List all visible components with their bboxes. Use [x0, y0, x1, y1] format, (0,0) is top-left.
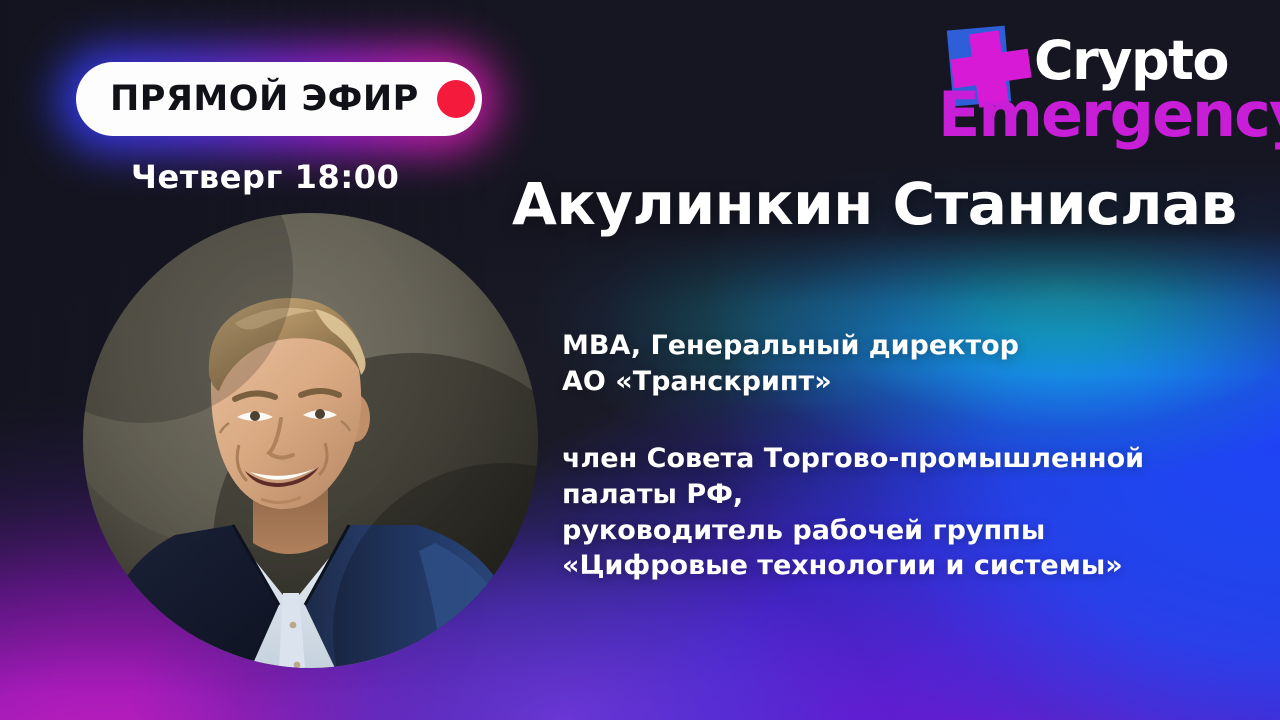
live-badge[interactable]: ПРЯМОЙ ЭФИР [76, 62, 482, 136]
bio-spacer [562, 399, 1262, 441]
brand-logo[interactable]: Crypto Emergency [938, 18, 1256, 158]
bio-line: палаты РФ, [562, 477, 1262, 513]
speaker-bio: MBA, Генеральный директор АО «Транскрипт… [562, 328, 1262, 584]
bio-group-memberships: член Совета Торгово-промышленной палаты … [562, 441, 1262, 584]
bio-group-position: MBA, Генеральный директор АО «Транскрипт… [562, 328, 1262, 399]
logo-word-emergency: Emergency [938, 84, 1280, 146]
bio-line: MBA, Генеральный директор [562, 328, 1262, 364]
bio-line: АО «Транскрипт» [562, 364, 1262, 400]
schedule-text: Четверг 18:00 [131, 158, 400, 196]
speaker-portrait [83, 213, 538, 668]
bio-line: член Совета Торгово-промышленной [562, 441, 1262, 477]
live-badge-label: ПРЯМОЙ ЭФИР [110, 82, 419, 117]
bio-line: руководитель рабочей группы [562, 513, 1262, 549]
bio-line: «Цифровые технологии и системы» [562, 548, 1262, 584]
stream-announcement-banner: ПРЯМОЙ ЭФИР Четверг 18:00 Crypto Emergen… [0, 0, 1280, 720]
live-record-dot-icon [437, 80, 475, 118]
page-title: Акулинкин Станислав [512, 174, 1237, 235]
